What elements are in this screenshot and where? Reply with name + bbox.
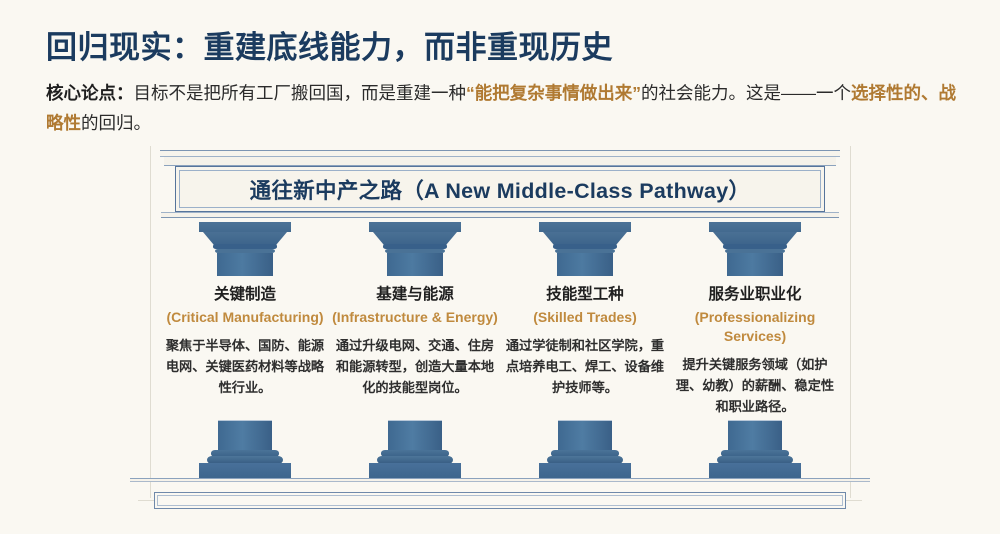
pillar-professionalizing-services[interactable]: 服务业职业化 (Professionalizing Services) 提升关键… — [670, 222, 840, 482]
temple-diagram: 通往新中产之路（A New Middle-Class Pathway） 关键制造… — [0, 140, 1000, 534]
pillar-text-block: 服务业职业化 (Professionalizing Services) 提升关键… — [672, 284, 838, 417]
pillar-text-block: 关键制造 (Critical Manufacturing) 聚焦于半导体、国防、… — [162, 284, 328, 398]
column-capital-icon — [367, 222, 463, 276]
base-shaft — [388, 420, 442, 451]
architrave-banner: 通往新中产之路（A New Middle-Class Pathway） — [175, 166, 825, 212]
column-capital-icon — [537, 222, 633, 276]
key-argument-part3: 的回归。 — [81, 113, 151, 133]
key-argument-part1: 目标不是把所有工厂搬回国，而是重建一种 — [134, 83, 467, 103]
capital-neck — [727, 253, 783, 276]
page-title: 回归现实：重建底线能力，而非重现历史 — [46, 22, 613, 67]
pillar-title: 关键制造 — [162, 284, 328, 306]
pillar-skilled-trades[interactable]: 技能型工种 (Skilled Trades) 通过学徒制和社区学院，重点培养电工… — [500, 222, 670, 482]
pillar-subtitle: (Critical Manufacturing) — [162, 308, 328, 327]
key-argument-label: 核心论点： — [46, 83, 134, 103]
columns-row: 关键制造 (Critical Manufacturing) 聚焦于半导体、国防、… — [160, 222, 840, 482]
capital-neck — [387, 253, 443, 276]
pillar-subtitle: (Professionalizing Services) — [672, 308, 838, 346]
stylobate-slab-inner-border — [157, 495, 843, 506]
cornice-mid — [164, 157, 836, 166]
capital-abacus — [369, 222, 461, 232]
stylobate-top-molding — [130, 478, 870, 482]
column-base-icon — [537, 420, 633, 482]
pillar-text-block: 基建与能源 (Infrastructure & Energy) 通过升级电网、交… — [332, 284, 498, 398]
base-shaft — [558, 420, 612, 451]
guide-line-left — [150, 146, 151, 498]
pillar-title: 技能型工种 — [502, 284, 668, 306]
column-base-icon — [367, 420, 463, 482]
entablature-title: 通往新中产之路（A New Middle-Class Pathway） — [250, 174, 751, 205]
pillar-description: 提升关键服务领域（如护理、幼教）的薪酬、稳定性和职业路径。 — [672, 354, 838, 417]
key-argument-quote: “能把复杂事情做出来” — [466, 83, 641, 103]
capital-abacus — [709, 222, 801, 232]
key-argument-part2: 的社会能力。这是——一个 — [641, 83, 851, 103]
pillar-title: 服务业职业化 — [672, 284, 838, 306]
guide-line-right — [850, 146, 851, 498]
pillar-description: 聚焦于半导体、国防、能源电网、关键医药材料等战略性行业。 — [162, 335, 328, 398]
column-base-icon — [197, 420, 293, 482]
key-argument-paragraph: 核心论点：目标不是把所有工厂搬回国，而是重建一种“能把复杂事情做出来”的社会能力… — [46, 78, 958, 138]
stylobate-slab — [154, 492, 846, 509]
base-shaft — [218, 420, 272, 451]
entablature-base-molding — [161, 212, 839, 218]
column-capital-icon — [707, 222, 803, 276]
pillar-subtitle: (Skilled Trades) — [502, 308, 668, 327]
pillar-text-block: 技能型工种 (Skilled Trades) 通过学徒制和社区学院，重点培养电工… — [502, 284, 668, 398]
capital-neck — [557, 253, 613, 276]
pillar-subtitle: (Infrastructure & Energy) — [332, 308, 498, 327]
entablature: 通往新中产之路（A New Middle-Class Pathway） — [160, 150, 840, 218]
pillar-infrastructure-energy[interactable]: 基建与能源 (Infrastructure & Energy) 通过升级电网、交… — [330, 222, 500, 482]
pillar-description: 通过学徒制和社区学院，重点培养电工、焊工、设备维护技师等。 — [502, 335, 668, 398]
capital-abacus — [199, 222, 291, 232]
column-capital-icon — [197, 222, 293, 276]
capital-neck — [217, 253, 273, 276]
cornice-top — [160, 150, 840, 157]
pillar-critical-manufacturing[interactable]: 关键制造 (Critical Manufacturing) 聚焦于半导体、国防、… — [160, 222, 330, 482]
capital-abacus — [539, 222, 631, 232]
base-shaft — [728, 420, 782, 451]
pillar-description: 通过升级电网、交通、住房和能源转型，创造大量本地化的技能型岗位。 — [332, 335, 498, 398]
pillar-title: 基建与能源 — [332, 284, 498, 306]
column-base-icon — [707, 420, 803, 482]
